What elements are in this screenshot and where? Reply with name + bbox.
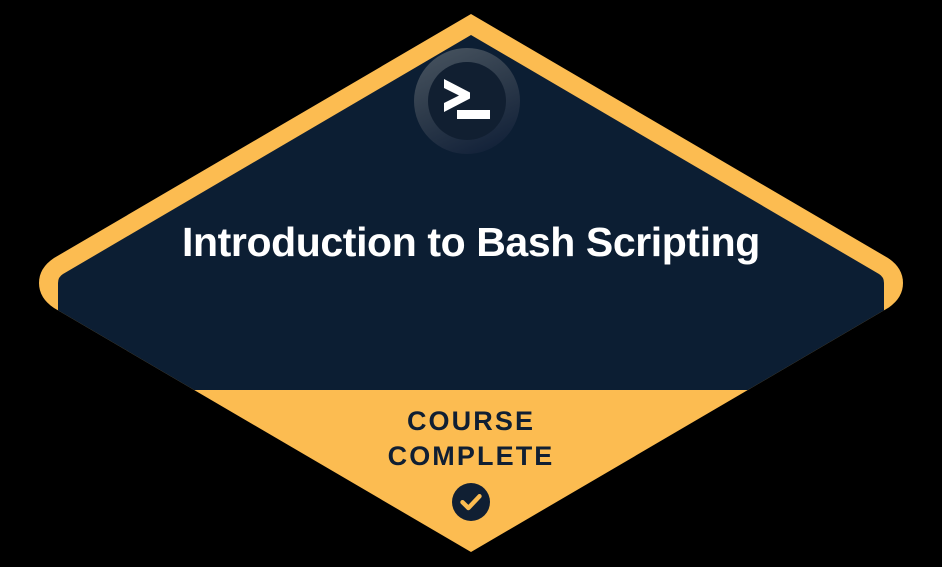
course-completion-badge: Introduction to Bash Scripting COURSE CO… [0, 0, 942, 567]
badge-inner-panel [58, 35, 884, 390]
badge-shape [0, 0, 942, 567]
